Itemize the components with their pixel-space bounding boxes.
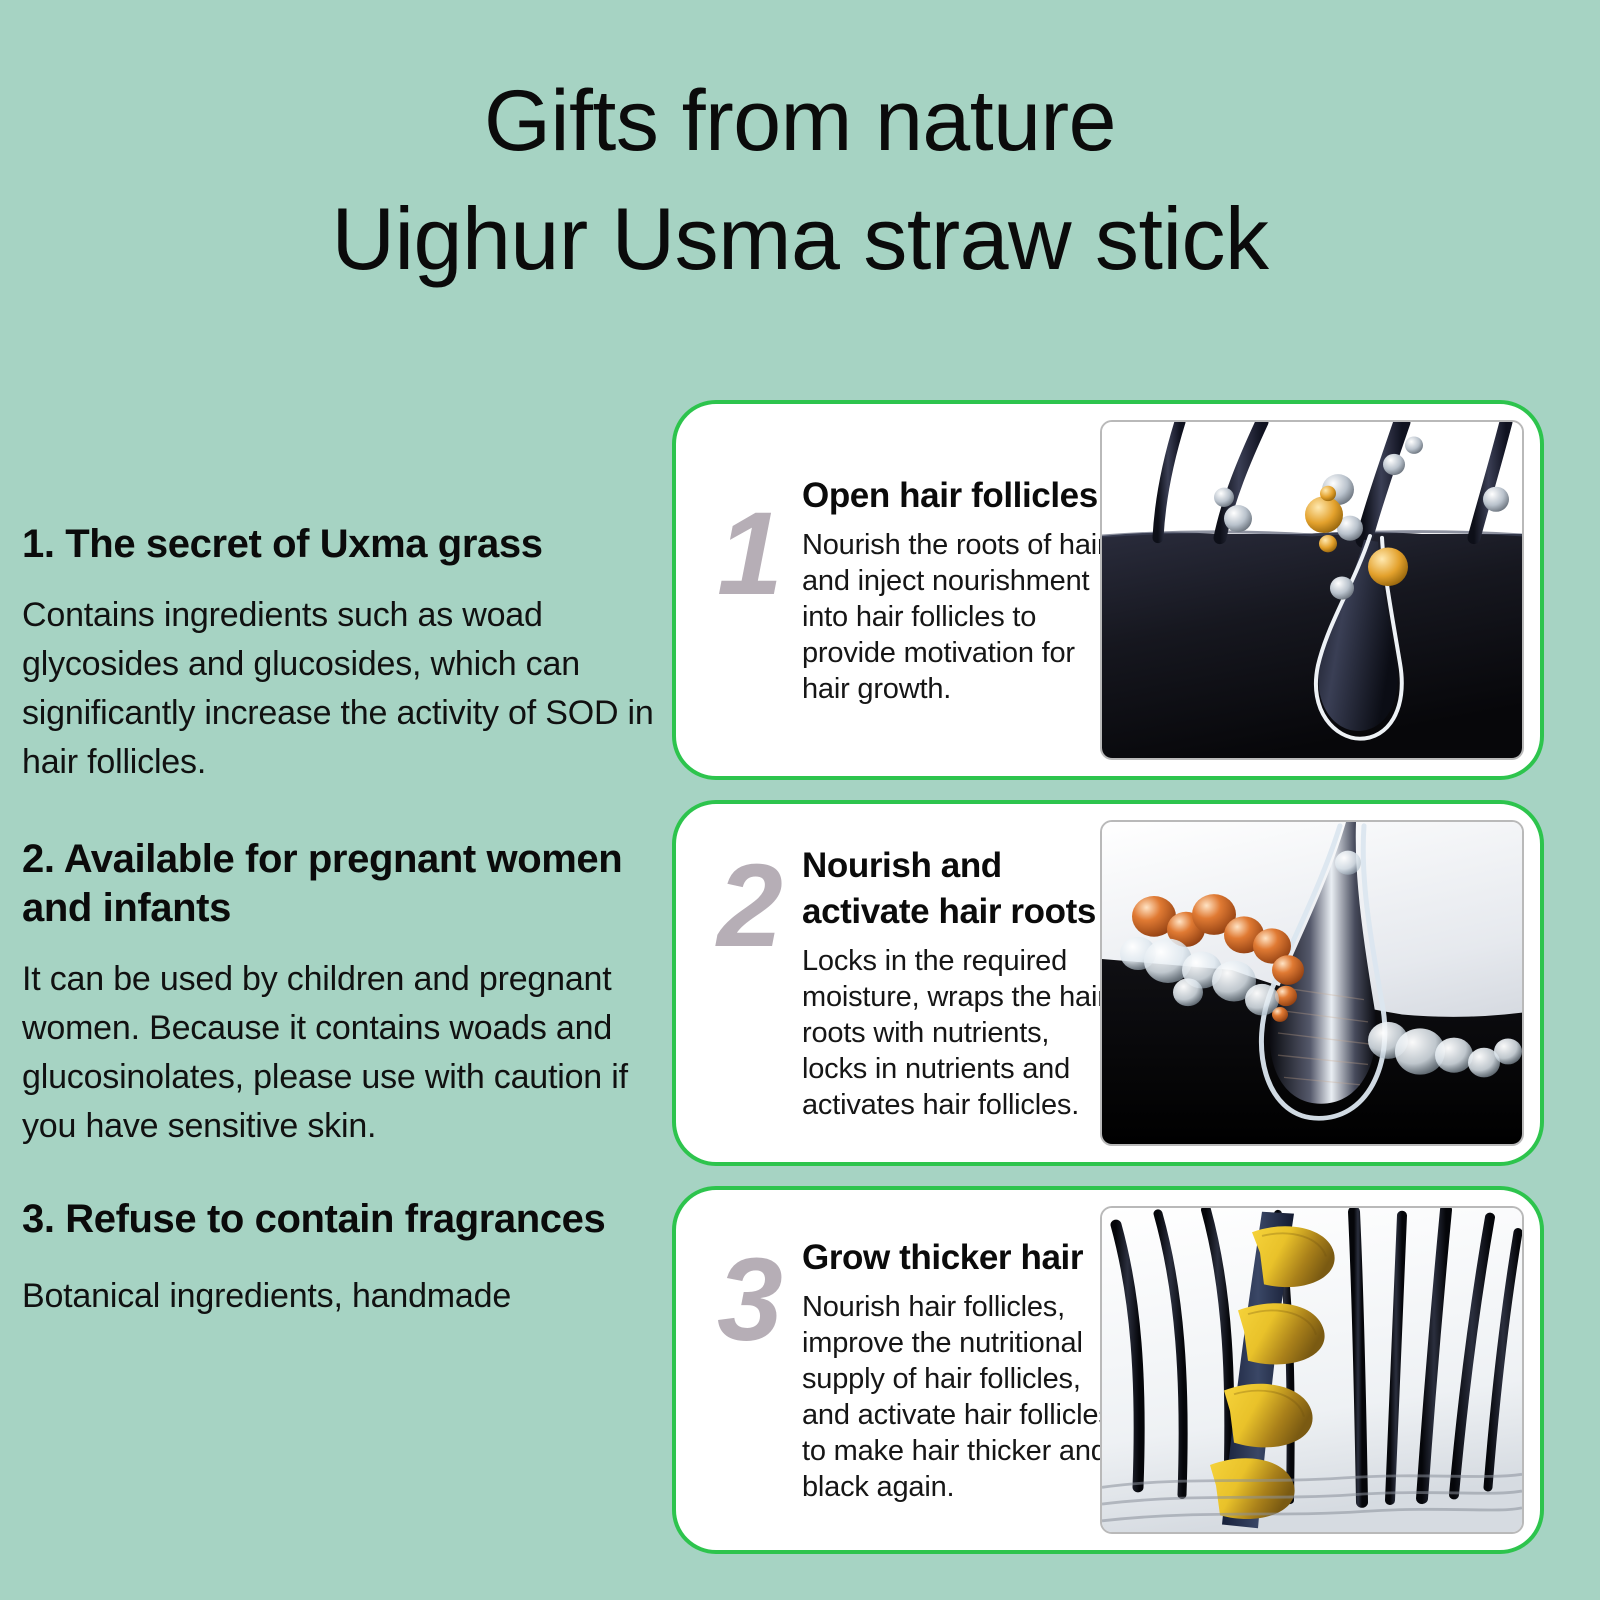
feature-item-1: 1. The secret of Uxma grass Contains ing…: [22, 520, 672, 787]
step-description-1: Nourish the roots of hair and inject nou…: [802, 527, 1116, 707]
follicle-nourish-illustration-svg: [1102, 822, 1522, 1144]
title-line-2: Uighur Usma straw stick: [0, 180, 1600, 298]
step-description-3: Nourish hair follicles, improve the nutr…: [802, 1289, 1116, 1505]
feature-heading-1: 1. The secret of Uxma grass: [22, 520, 672, 569]
steps-list: 1 Open hair follicles Nourish the roots …: [672, 400, 1544, 1554]
hair-root-nourish-image: [1100, 820, 1524, 1146]
features-list: 1. The secret of Uxma grass Contains ing…: [22, 520, 672, 1361]
feature-item-2: 2. Available for pregnant women and infa…: [22, 835, 672, 1151]
step-card-1: 1 Open hair follicles Nourish the roots …: [672, 400, 1544, 780]
step-copy-2: Nourish and activate hair roots Locks in…: [796, 843, 1116, 1123]
gold-ribbon-hair-illustration-svg: [1102, 1208, 1522, 1532]
feature-item-3: 3. Refuse to contain fragrances Botanica…: [22, 1195, 672, 1321]
follicle-open-illustration-svg: [1102, 422, 1522, 758]
thicker-hair-image: [1100, 1206, 1524, 1534]
step-title-1: Open hair follicles: [802, 473, 1116, 519]
hair-follicle-cross-section-image: [1100, 420, 1524, 760]
step-card-3: 3 Grow thicker hair Nourish hair follicl…: [672, 1186, 1544, 1554]
step-card-2-text: 2 Nourish and activate hair roots Locks …: [676, 843, 1116, 1123]
step-number-3: 3: [704, 1241, 796, 1359]
feature-body-2: It can be used by children and pregnant …: [22, 955, 672, 1151]
page-title: Gifts from nature Uighur Usma straw stic…: [0, 62, 1600, 298]
feature-body-3: Botanical ingredients, handmade: [22, 1272, 672, 1321]
step-card-2: 2 Nourish and activate hair roots Locks …: [672, 800, 1544, 1166]
step-title-2: Nourish and activate hair roots: [802, 843, 1116, 935]
title-line-1: Gifts from nature: [0, 62, 1600, 180]
step-copy-3: Grow thicker hair Nourish hair follicles…: [796, 1235, 1116, 1505]
step-title-3: Grow thicker hair: [802, 1235, 1116, 1281]
step-card-3-text: 3 Grow thicker hair Nourish hair follicl…: [676, 1235, 1116, 1505]
feature-heading-3: 3. Refuse to contain fragrances: [22, 1195, 672, 1244]
step-number-1: 1: [704, 495, 796, 613]
step-copy-1: Open hair follicles Nourish the roots of…: [796, 473, 1116, 707]
step-card-1-text: 1 Open hair follicles Nourish the roots …: [676, 473, 1116, 707]
step-number-2: 2: [704, 847, 796, 965]
feature-heading-2: 2. Available for pregnant women and infa…: [22, 835, 672, 933]
feature-body-1: Contains ingredients such as woad glycos…: [22, 591, 672, 787]
step-description-2: Locks in the required moisture, wraps th…: [802, 943, 1116, 1123]
